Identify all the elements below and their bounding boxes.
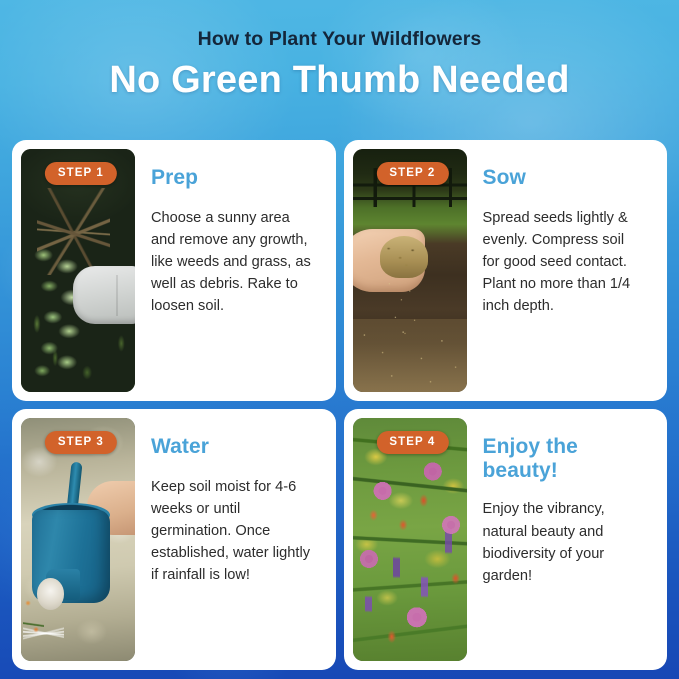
step-4-copy: Enjoy the beauty! Enjoy the vibrancy, na… — [467, 418, 659, 661]
seed-pile — [380, 236, 428, 277]
step-badge-1: STEP 1 — [45, 162, 117, 185]
step-3-title: Water — [151, 435, 313, 459]
weeds-photo-illustration — [21, 149, 135, 392]
gardening-glove — [73, 266, 135, 324]
step-card-1[interactable]: STEP 1 Prep Choose a sunny area and remo… — [12, 140, 336, 401]
steps-grid: STEP 1 Prep Choose a sunny area and remo… — [12, 140, 667, 670]
wildflower-meadow-illustration — [353, 418, 467, 661]
step-card-2[interactable]: STEP 2 Sow Spread seeds lightly & evenly… — [344, 140, 668, 401]
step-badge-3: STEP 3 — [45, 431, 117, 454]
step-card-3[interactable]: STEP 3 Water Keep soil moist for 4-6 wee… — [12, 409, 336, 670]
step-card-4[interactable]: STEP 4 Enjoy the beauty! Enjoy the vibra… — [344, 409, 668, 670]
watering-photo-illustration — [21, 418, 135, 661]
step-1-body: Choose a sunny area and remove any growt… — [151, 190, 313, 318]
sowing-photo-illustration — [353, 149, 467, 392]
step-2-title: Sow — [483, 166, 645, 190]
eyebrow-text: How to Plant Your Wildflowers — [0, 0, 679, 50]
step-3-body: Keep soil moist for 4-6 weeks or until g… — [151, 459, 313, 587]
step-3-copy: Water Keep soil moist for 4-6 weeks or u… — [135, 418, 327, 661]
orange-poppy — [23, 593, 44, 656]
step-2-thumbnail: STEP 2 — [353, 149, 467, 392]
purple-coneflowers — [353, 418, 467, 661]
step-4-body: Enjoy the vibrancy, natural beauty and b… — [483, 482, 645, 587]
step-4-title: Enjoy the beauty! — [483, 435, 645, 482]
poster-header: How to Plant Your Wildflowers No Green T… — [0, 0, 679, 136]
step-3-thumbnail: STEP 3 — [21, 418, 135, 661]
step-4-thumbnail: STEP 4 — [353, 418, 467, 661]
step-badge-4: STEP 4 — [376, 431, 448, 454]
soil-seedbed — [353, 319, 467, 392]
step-1-copy: Prep Choose a sunny area and remove any … — [135, 149, 327, 392]
infographic-poster: How to Plant Your Wildflowers No Green T… — [0, 0, 679, 679]
step-badge-2: STEP 2 — [376, 162, 448, 185]
page-title: No Green Thumb Needed — [0, 50, 679, 102]
step-2-body: Spread seeds lightly & evenly. Compress … — [483, 190, 645, 318]
step-2-copy: Sow Spread seeds lightly & evenly. Compr… — [467, 149, 659, 392]
step-1-thumbnail: STEP 1 — [21, 149, 135, 392]
step-1-title: Prep — [151, 166, 313, 190]
